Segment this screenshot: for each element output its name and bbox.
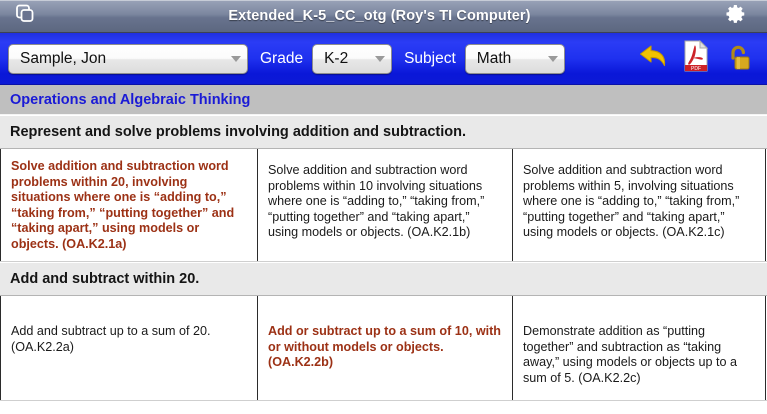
app-window: Extended_K-5_CC_otg (Roy's TI Computer) … — [0, 0, 767, 414]
pdf-icon: PDF — [682, 40, 710, 77]
standard-cell[interactable]: Solve addition and subtraction word prob… — [258, 149, 513, 261]
subject-label: Subject — [404, 50, 456, 68]
window-switcher-button[interactable] — [0, 3, 44, 30]
standards-content: Operations and Algebraic Thinking Repres… — [0, 85, 767, 414]
standard-cell[interactable]: Solve addition and subtraction word prob… — [0, 149, 258, 261]
student-select[interactable]: Sample, Jon — [8, 44, 248, 74]
unlock-button[interactable] — [717, 39, 759, 79]
cluster-header-2: Add and subtract within 20. — [0, 262, 767, 296]
copy-windows-icon — [14, 3, 36, 30]
undo-icon — [638, 42, 670, 75]
standard-cell[interactable]: Add or subtract up to a sum of 10, with … — [258, 296, 513, 400]
student-select-value: Sample, Jon — [9, 50, 225, 68]
standard-cell[interactable]: Add and subtract up to a sum of 20. (OA.… — [0, 296, 258, 400]
window-title: Extended_K-5_CC_otg (Roy's TI Computer) — [44, 8, 715, 24]
undo-button[interactable] — [633, 39, 675, 79]
chevron-down-icon — [225, 56, 247, 62]
standard-cell[interactable]: Solve addition and subtraction word prob… — [513, 149, 766, 261]
grade-label: Grade — [260, 50, 303, 68]
grade-select[interactable]: K-2 — [312, 44, 392, 74]
grade-select-value: K-2 — [313, 50, 369, 68]
domain-header: Operations and Algebraic Thinking — [0, 85, 767, 115]
cluster-title: Represent and solve problems involving a… — [10, 124, 466, 140]
settings-button[interactable] — [715, 3, 767, 30]
domain-title: Operations and Algebraic Thinking — [10, 92, 250, 108]
chevron-down-icon — [542, 56, 564, 62]
subject-select[interactable]: Math — [465, 44, 565, 74]
cluster-title: Add and subtract within 20. — [10, 271, 199, 287]
pdf-button[interactable]: PDF — [675, 39, 717, 79]
gear-icon — [725, 3, 747, 30]
toolbar: Sample, Jon Grade K-2 Subject Math — [0, 33, 767, 85]
subject-select-value: Math — [466, 50, 542, 68]
svg-text:PDF: PDF — [691, 66, 701, 72]
standards-row: Add and subtract up to a sum of 20. (OA.… — [0, 296, 767, 401]
chevron-down-icon — [369, 56, 391, 62]
standard-cell[interactable]: Demonstrate addition as “putting togethe… — [513, 296, 766, 400]
cluster-header-1: Represent and solve problems involving a… — [0, 115, 767, 149]
unlock-icon — [724, 40, 752, 77]
title-bar: Extended_K-5_CC_otg (Roy's TI Computer) — [0, 0, 767, 33]
standards-row: Solve addition and subtraction word prob… — [0, 149, 767, 262]
